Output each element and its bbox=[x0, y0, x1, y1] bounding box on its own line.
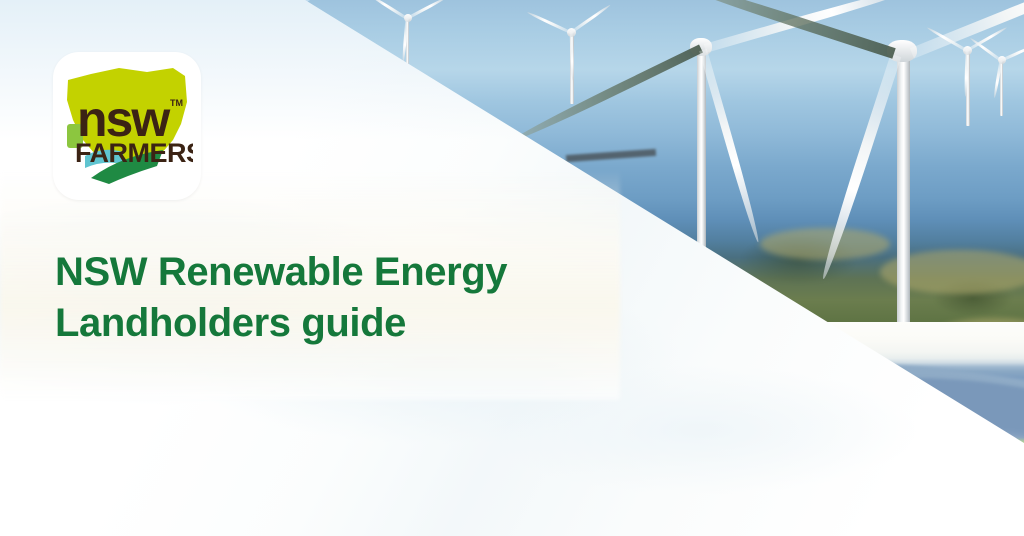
nsw-farmers-logo[interactable]: nsw TM FARMERS bbox=[53, 52, 201, 200]
grass-clearing bbox=[760, 228, 890, 260]
logo-artwork: nsw TM FARMERS bbox=[53, 52, 201, 200]
nsw-farmers-logo-icon: nsw TM FARMERS bbox=[61, 62, 193, 190]
svg-text:TM: TM bbox=[170, 98, 183, 108]
access-road-far bbox=[566, 149, 656, 162]
promotional-banner: nsw TM FARMERS NSW Renewable Energy Land… bbox=[0, 0, 1024, 536]
banner-headline: NSW Renewable Energy Landholders guide bbox=[55, 247, 675, 349]
svg-text:FARMERS: FARMERS bbox=[75, 138, 193, 168]
